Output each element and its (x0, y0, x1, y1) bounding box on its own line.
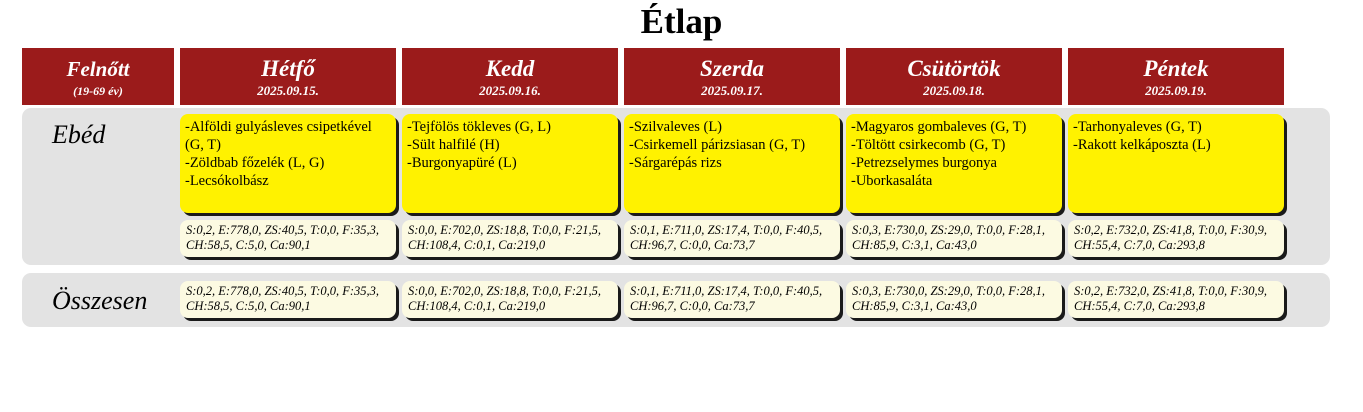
dish-line: -Magyaros gombaleves (G, T) (851, 118, 1056, 136)
age-group-name: Felnőtt (66, 56, 129, 82)
dish-line: -Rakott kelkáposzta (L) (1073, 136, 1278, 154)
lunch-column-thursday: -Magyaros gombaleves (G, T)-Töltött csir… (846, 114, 1062, 265)
dish-line: -Alföldi gulyásleves csipetkével (G, T) (185, 118, 390, 154)
lunch-column-monday: -Alföldi gulyásleves csipetkével (G, T)-… (180, 114, 396, 265)
dish-list: -Szilvaleves (L)-Csirkemell párizsiasan … (624, 114, 840, 213)
day-date: 2025.09.18. (923, 82, 985, 100)
header-cell-age-group: Felnőtt (19-69 év) (22, 48, 174, 105)
dish-line: -Uborkasaláta (851, 172, 1056, 190)
day-date: 2025.09.19. (1145, 82, 1207, 100)
lunch-column-wednesday: -Szilvaleves (L)-Csirkemell párizsiasan … (624, 114, 840, 265)
day-name: Péntek (1143, 56, 1208, 82)
lunch-column-tuesday: -Tejfölös tökleves (G, L)-Sült halfilé (… (402, 114, 618, 265)
day-name: Szerda (700, 56, 764, 82)
dish-list: -Magyaros gombaleves (G, T)-Töltött csir… (846, 114, 1062, 213)
total-column-friday: S:0,2, E:732,0, ZS:41,8, T:0,0, F:30,9, … (1068, 281, 1284, 327)
dish-list: -Alföldi gulyásleves csipetkével (G, T)-… (180, 114, 396, 213)
total-nutrition-values: S:0,1, E:711,0, ZS:17,4, T:0,0, F:40,5, … (624, 281, 840, 318)
dish-line: -Tejfölös tökleves (G, L) (407, 118, 612, 136)
day-date: 2025.09.15. (257, 82, 319, 100)
total-column-monday: S:0,2, E:778,0, ZS:40,5, T:0,0, F:35,3, … (180, 281, 396, 327)
dish-line: -Tarhonyaleves (G, T) (1073, 118, 1278, 136)
nutrition-values: S:0,1, E:711,0, ZS:17,4, T:0,0, F:40,5, … (624, 220, 840, 257)
total-column-thursday: S:0,3, E:730,0, ZS:29,0, T:0,0, F:28,1, … (846, 281, 1062, 327)
age-group-range: (19-69 év) (73, 82, 123, 100)
total-row-panel: Összesen S:0,2, E:778,0, ZS:40,5, T:0,0,… (22, 273, 1330, 327)
total-row-label: Összesen (52, 286, 147, 316)
total-nutrition-values: S:0,0, E:702,0, ZS:18,8, T:0,0, F:21,5, … (402, 281, 618, 318)
day-name: Hétfő (261, 56, 315, 82)
nutrition-values: S:0,0, E:702,0, ZS:18,8, T:0,0, F:21,5, … (402, 220, 618, 257)
dish-line: -Csirkemell párizsiasan (G, T) (629, 136, 834, 154)
total-column-tuesday: S:0,0, E:702,0, ZS:18,8, T:0,0, F:21,5, … (402, 281, 618, 327)
header-cell-wednesday: Szerda 2025.09.17. (624, 48, 840, 105)
dish-line: -Töltött csirkecomb (G, T) (851, 136, 1056, 154)
header-cell-tuesday: Kedd 2025.09.16. (402, 48, 618, 105)
day-date: 2025.09.16. (479, 82, 541, 100)
dish-line: -Burgonyapüré (L) (407, 154, 612, 172)
nutrition-values: S:0,3, E:730,0, ZS:29,0, T:0,0, F:28,1, … (846, 220, 1062, 257)
dish-line: -Petrezselymes burgonya (851, 154, 1056, 172)
dish-list: -Tejfölös tökleves (G, L)-Sült halfilé (… (402, 114, 618, 213)
total-nutrition-values: S:0,2, E:732,0, ZS:41,8, T:0,0, F:30,9, … (1068, 281, 1284, 318)
total-nutrition-values: S:0,2, E:778,0, ZS:40,5, T:0,0, F:35,3, … (180, 281, 396, 318)
lunch-column-friday: -Tarhonyaleves (G, T)-Rakott kelkáposzta… (1068, 114, 1284, 265)
header-cell-friday: Péntek 2025.09.19. (1068, 48, 1284, 105)
lunch-columns: -Alföldi gulyásleves csipetkével (G, T)-… (174, 108, 1330, 265)
total-nutrition-values: S:0,3, E:730,0, ZS:29,0, T:0,0, F:28,1, … (846, 281, 1062, 318)
table-header-row: Felnőtt (19-69 év) Hétfő 2025.09.15. Ked… (22, 48, 1290, 105)
total-columns: S:0,2, E:778,0, ZS:40,5, T:0,0, F:35,3, … (174, 273, 1330, 327)
header-cell-thursday: Csütörtök 2025.09.18. (846, 48, 1062, 105)
day-name: Kedd (486, 56, 535, 82)
lunch-row-panel: Ebéd -Alföldi gulyásleves csipetkével (G… (22, 108, 1330, 265)
dish-line: -Lecsókolbász (185, 172, 390, 190)
dish-line: -Sárgarépás rizs (629, 154, 834, 172)
lunch-row-label: Ebéd (52, 120, 105, 150)
dish-line: -Sült halfilé (H) (407, 136, 612, 154)
dish-line: -Zöldbab főzelék (L, G) (185, 154, 390, 172)
page-title: Étlap (0, 2, 1363, 42)
nutrition-values: S:0,2, E:732,0, ZS:41,8, T:0,0, F:30,9, … (1068, 220, 1284, 257)
dish-list: -Tarhonyaleves (G, T)-Rakott kelkáposzta… (1068, 114, 1284, 213)
day-date: 2025.09.17. (701, 82, 763, 100)
header-cell-monday: Hétfő 2025.09.15. (180, 48, 396, 105)
nutrition-values: S:0,2, E:778,0, ZS:40,5, T:0,0, F:35,3, … (180, 220, 396, 257)
dish-line: -Szilvaleves (L) (629, 118, 834, 136)
menu-page: Étlap Felnőtt (19-69 év) Hétfő 2025.09.1… (0, 0, 1363, 412)
day-name: Csütörtök (907, 56, 1000, 82)
total-column-wednesday: S:0,1, E:711,0, ZS:17,4, T:0,0, F:40,5, … (624, 281, 840, 327)
